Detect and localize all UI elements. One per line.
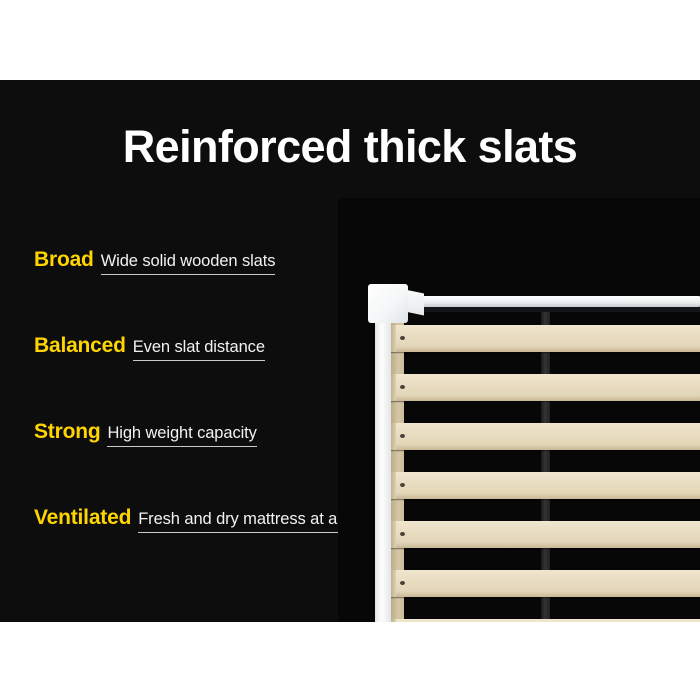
wooden-slat <box>390 521 700 548</box>
feature-description: Wide solid wooden slats <box>101 252 276 275</box>
wooden-slat <box>390 325 700 352</box>
screw-head-icon <box>400 483 405 487</box>
feature-item-balanced: Balanced Even slat distance <box>34 334 374 420</box>
page-title: Reinforced thick slats <box>0 124 700 169</box>
top-side-rail <box>378 296 700 307</box>
screw-head-icon <box>400 532 405 536</box>
wooden-slat <box>390 374 700 401</box>
bottom-white-band <box>0 622 700 700</box>
feature-item-broad: Broad Wide solid wooden slats <box>34 248 374 334</box>
feature-label: Broad <box>34 248 94 272</box>
wooden-slat <box>390 423 700 450</box>
screw-head-icon <box>400 336 405 340</box>
feature-item-ventilated: Ventilated Fresh and dry mattress at all… <box>34 506 374 592</box>
feature-item-strong: Strong High weight capacity <box>34 420 374 506</box>
feature-description: Even slat distance <box>133 338 265 361</box>
wooden-slat <box>390 472 700 499</box>
top-rail-shadow <box>378 307 700 312</box>
screw-head-icon <box>400 385 405 389</box>
feature-label: Strong <box>34 420 100 444</box>
top-white-band <box>0 0 700 80</box>
corner-post-leg <box>376 321 391 622</box>
screw-head-icon <box>400 581 405 585</box>
screw-head-icon <box>400 434 405 438</box>
feature-label: Ventilated <box>34 506 131 530</box>
bed-frame-slats-photo <box>338 198 700 622</box>
black-content-panel: Reinforced thick slats Broad Wide solid … <box>0 80 700 622</box>
corner-post-cap <box>368 284 408 323</box>
feature-list: Broad Wide solid wooden slats Balanced E… <box>34 248 374 592</box>
wooden-slat <box>390 570 700 597</box>
product-feature-banner: Reinforced thick slats Broad Wide solid … <box>0 0 700 700</box>
feature-label: Balanced <box>34 334 126 358</box>
feature-description: High weight capacity <box>107 424 256 447</box>
